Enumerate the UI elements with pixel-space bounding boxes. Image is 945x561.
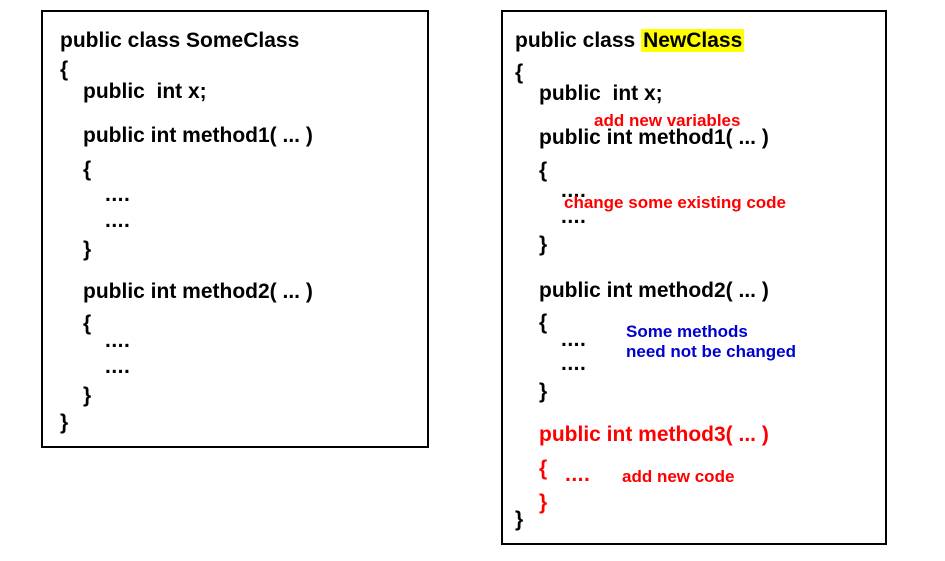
code-line-method1-body-dots-2: .... <box>561 206 586 227</box>
code-line-method2-body-dots-1: .... <box>105 330 130 351</box>
code-line-field-x: public int x; <box>83 81 207 102</box>
code-line-class-close-brace: } <box>515 509 523 530</box>
code-line-method2-open-brace: { <box>83 313 91 334</box>
code-line-method2-signature: public int method2( ... ) <box>539 280 769 301</box>
code-line-class-open-brace: { <box>515 62 523 83</box>
original-class-panel: public class SomeClass { public int x; p… <box>41 10 429 448</box>
annotation-some-methods: Some methods <box>626 322 748 341</box>
code-line-method1-open-brace: { <box>83 159 91 180</box>
code-line-method1-body-dots-2: .... <box>105 210 130 231</box>
code-line-method1-body-dots-1: .... <box>105 184 130 205</box>
code-line-method1-close-brace: } <box>539 234 547 255</box>
annotation-need-not-be-changed: need not be changed <box>626 342 796 361</box>
class-declaration-prefix: public class <box>515 29 641 52</box>
code-line-method2-body-dots-2: .... <box>105 356 130 377</box>
highlighted-class-name: NewClass <box>641 29 744 52</box>
code-line-class-open-brace: { <box>60 59 68 80</box>
code-line-class-declaration: public class SomeClass <box>60 30 299 51</box>
modified-code-area: public class NewClass { public int x; ad… <box>503 12 885 543</box>
slide-canvas: { "colors": { "highlight": "#ffff00", "a… <box>0 0 945 561</box>
code-line-method2-signature: public int method2( ... ) <box>83 281 313 302</box>
annotation-change-some-existing-code: change some existing code <box>564 193 786 212</box>
code-line-method2-close-brace: } <box>539 381 547 402</box>
code-line-method3-body-dots: .... <box>565 464 590 485</box>
code-line-field-x: public int x; <box>539 83 663 104</box>
code-line-method2-body-dots-2: .... <box>561 353 586 374</box>
code-line-method1-open-brace: { <box>539 160 547 181</box>
code-line-method2-body-dots-1: .... <box>561 329 586 350</box>
code-line-class-declaration: public class NewClass <box>515 30 744 51</box>
code-line-method1-close-brace: } <box>83 239 91 260</box>
code-line-method3-open-brace: { <box>539 458 547 479</box>
code-line-class-close-brace: } <box>60 412 68 433</box>
code-line-method3-close-brace: } <box>539 492 547 513</box>
annotation-add-new-code: add new code <box>622 467 734 486</box>
code-line-method3-signature: public int method3( ... ) <box>539 424 769 445</box>
modified-class-panel: public class NewClass { public int x; ad… <box>501 10 887 545</box>
original-code-area: public class SomeClass { public int x; p… <box>43 12 427 446</box>
code-line-method2-close-brace: } <box>83 385 91 406</box>
code-line-method1-signature: public int method1( ... ) <box>83 125 313 146</box>
code-line-method1-signature: public int method1( ... ) <box>539 127 769 148</box>
code-line-method2-open-brace: { <box>539 312 547 333</box>
